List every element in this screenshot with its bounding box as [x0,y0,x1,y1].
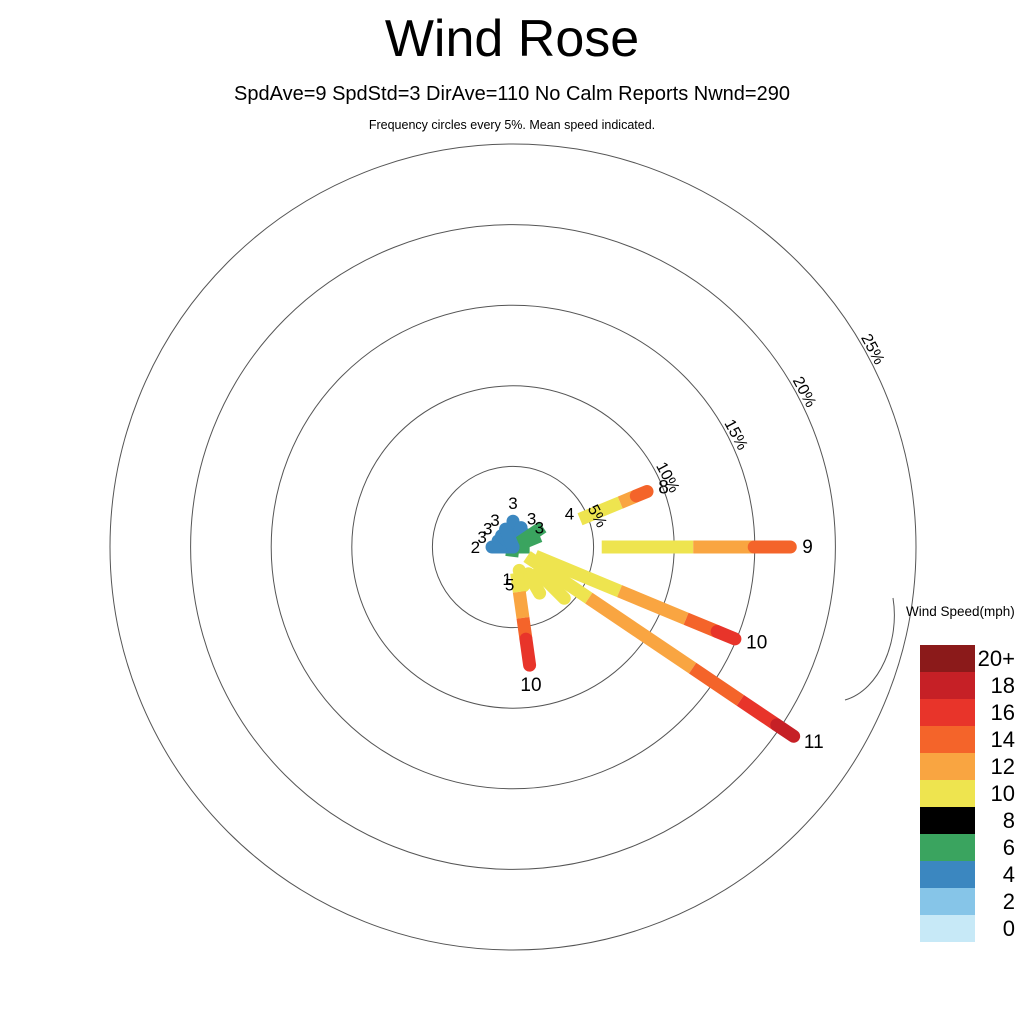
legend: Wind Speed(mph)20+181614121086420 [845,598,1015,942]
ring-label-25: 25% [857,331,887,367]
petal-label-ENE: 8 [658,478,669,499]
legend-swatch-8[interactable] [920,807,975,834]
legend-label-12: 12 [991,754,1015,779]
petal-label-NE: 3 [535,518,544,537]
legend-title: Wind Speed(mph) [906,604,1015,619]
petal-label-ESE: 10 [746,633,767,654]
legend-leader-line [845,598,894,700]
petal-label-SE-: 11 [804,732,824,753]
petal-segment [517,573,520,592]
petal-segment [777,725,794,736]
wind-rose-plot: 5%10%15%20%25% 333489101110512333 Wind S… [0,0,1024,1024]
petal-segment [636,491,647,495]
legend-swatch-14[interactable] [920,726,975,753]
legend-label-0: 0 [1003,916,1015,941]
petal-label-NE+: 4 [565,504,574,523]
petal-label-SW: 1 [502,570,511,589]
legend-swatch-16[interactable] [920,699,975,726]
legend-label-20+: 20+ [978,646,1015,671]
petal-segment [543,519,555,527]
legend-swatch-0[interactable] [920,915,975,942]
petal-segment [526,639,530,665]
legend-swatch-10[interactable] [920,780,975,807]
legend-label-10: 10 [991,781,1015,806]
ring-label-20: 20% [789,374,819,410]
legend-swatch-18[interactable] [920,672,975,699]
legend-label-8: 8 [1003,808,1015,833]
legend-label-4: 4 [1003,862,1015,887]
legend-swatch-4[interactable] [920,861,975,888]
legend-label-14: 14 [991,727,1015,752]
legend-label-2: 2 [1003,889,1015,914]
petal-segment [740,700,776,725]
legend-swatch-20+[interactable] [920,645,975,672]
petal-segment [506,529,513,547]
petal-label-E: 9 [802,537,813,558]
petal-segment [620,591,687,619]
legend-label-16: 16 [991,700,1015,725]
petal-segment [693,668,741,700]
legend-label-18: 18 [991,673,1015,698]
petal-segment [717,632,735,639]
petal-segment [519,592,523,618]
legend-swatch-2[interactable] [920,888,975,915]
petal-label-S: 10 [520,675,541,696]
petal-segment [511,557,512,565]
legend-swatch-12[interactable] [920,753,975,780]
petal-label-N: 3 [508,494,517,513]
legend-swatch-6[interactable] [920,834,975,861]
ring-label-15: 15% [721,417,751,453]
petal-label-NNW: 3 [490,511,499,530]
legend-label-6: 6 [1003,835,1015,860]
